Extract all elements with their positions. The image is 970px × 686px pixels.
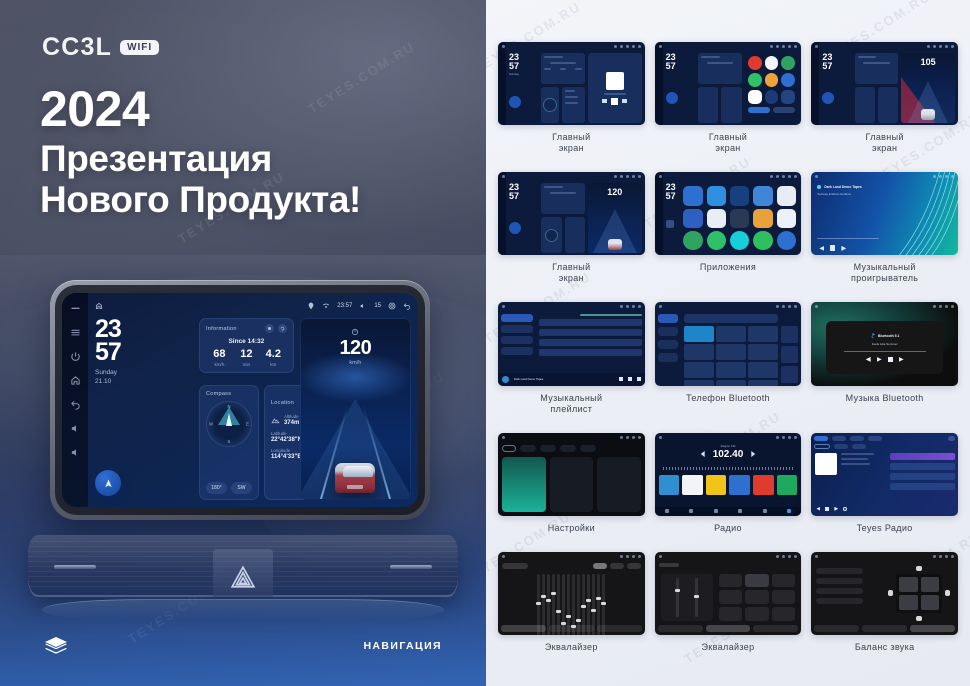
thumb-rail	[498, 42, 506, 125]
altitude-value: 374m	[284, 420, 299, 426]
thumb-miniplayer[interactable]: Dark Land Demo Tapes	[498, 373, 645, 386]
information-title: Information	[206, 326, 237, 332]
gear-icon[interactable]	[388, 302, 396, 310]
screen-thumbnail[interactable]: Dark Land Demo Tapes	[498, 302, 645, 385]
screen-thumbnail[interactable]: 23 57 120	[498, 172, 645, 255]
thumb-eq-tabs[interactable]	[501, 625, 642, 632]
thumb-teyes-controls[interactable]	[816, 507, 847, 511]
stat-unit: km/h	[206, 362, 233, 367]
compass-north-label: N	[227, 404, 230, 409]
thumbnail-caption: Баланс звука	[855, 642, 915, 653]
power-icon[interactable]	[70, 351, 81, 362]
refresh-icon[interactable]	[265, 324, 274, 333]
thumb-eq-preset[interactable]	[502, 563, 528, 569]
compass-heading: 180°	[206, 482, 227, 494]
stat-value: 12	[233, 349, 260, 360]
thumb-eq-modes[interactable]	[593, 563, 641, 569]
thumb-teyes-list[interactable]	[890, 453, 955, 490]
thumb-content: 23 57	[663, 51, 802, 125]
thumb-track-title: Dark Land Demo Tapes	[824, 185, 861, 189]
thumb-clock-m: 57	[822, 62, 851, 71]
headline-line-2: Нового Продукта!	[40, 179, 361, 220]
altitude-label: Altitude	[284, 414, 299, 419]
screen-thumbnail[interactable]	[811, 433, 958, 516]
clock-date: 21.10	[95, 378, 193, 387]
thumb-clock-m: 57	[509, 62, 538, 71]
thumbnail-caption: Главный экран	[709, 132, 747, 154]
clock-minutes: 57	[95, 341, 193, 364]
compass-title: Compass	[206, 391, 252, 397]
thumb-transport-controls[interactable]	[819, 245, 846, 251]
home-screen-grid: 23 57 Sunday 21.10	[95, 318, 411, 500]
thumb-teyes-tabs[interactable]	[814, 436, 955, 441]
screen-thumbnail[interactable]	[498, 552, 645, 635]
screen-thumbnail[interactable]: Dark Land Demo Tapes Subway Endless Endl…	[811, 172, 958, 255]
thumb-app-grid	[681, 183, 798, 253]
gallery-item[interactable]: Эквалайзер	[655, 552, 802, 653]
thumb-media-card	[588, 53, 642, 123]
compass-readouts: 180° SW	[206, 482, 252, 494]
screen-thumbnail[interactable]	[811, 552, 958, 635]
hardware-button-rail	[62, 293, 88, 507]
thumb-bt-card: Bluetooth 5.1 Feels Like Summer	[826, 321, 943, 374]
thumb-balance-tabs[interactable]	[814, 625, 955, 632]
stat-value: 68	[206, 349, 233, 360]
air-vent-bar	[28, 535, 458, 597]
thumbnail-caption: Музыкальный плейлист	[540, 393, 602, 415]
speed-unit: km/h	[301, 360, 410, 366]
thumb-phone-tabs[interactable]	[658, 314, 679, 362]
thumb-track-rows[interactable]	[539, 314, 642, 371]
thumb-call-actions[interactable]	[781, 326, 799, 382]
console-lip	[42, 599, 444, 621]
navigation-shortcut-button[interactable]	[95, 470, 121, 496]
thumbnail-caption: Настройки	[548, 523, 595, 534]
gallery-item[interactable]: 23 57 Sunday	[498, 42, 645, 154]
thumb-progress-bar[interactable]	[817, 238, 879, 240]
hero-headline: 2024 Презентация Нового Продукта!	[40, 84, 361, 221]
longitude-row: Longitude 114°4'33"E	[271, 448, 302, 460]
gallery-item[interactable]: Dark Land Demo Tapes Музыкальный плейлис…	[498, 302, 645, 414]
gallery-item[interactable]: Region FM 102.40	[655, 433, 802, 534]
thumb-bt-controls[interactable]	[866, 357, 904, 362]
gallery-item[interactable]: Bluetooth 5.1 Feels Like Summer Музыка B…	[811, 302, 958, 414]
thumbnail-caption: Музыкальный проигрыватель	[851, 262, 918, 284]
information-since: Since 14:32	[206, 338, 287, 345]
car-rear-window	[343, 466, 373, 477]
thumb-balance-presets[interactable]	[816, 568, 863, 604]
mountain-icon	[271, 416, 280, 425]
screen-thumbnail[interactable]: 23 57	[655, 42, 802, 125]
thumb-miniplayer-title: Dark Land Demo Tapes	[514, 377, 614, 381]
driving-view-widget[interactable]: 120 km/h	[300, 318, 411, 500]
thumb-keypad[interactable]	[684, 326, 778, 382]
screen-thumbnail[interactable]: 23 57 Sunday	[498, 42, 645, 125]
thumb-eq-presets[interactable]	[719, 574, 795, 621]
widgets-column: Information Since 14:32	[199, 318, 294, 500]
volume-icon	[359, 302, 367, 310]
thumbnail-caption: Радио	[714, 523, 742, 534]
screen-thumbnail[interactable]: 23 57	[655, 172, 802, 255]
screen-thumbnail[interactable]: Bluetooth 5.1 Feels Like Summer	[811, 302, 958, 385]
headline-year: 2024	[40, 84, 361, 135]
thumb-settings-tabs[interactable]	[502, 445, 641, 452]
hero-footer: НАВИГАЦИЯ	[0, 636, 486, 656]
menu-icon[interactable]	[70, 327, 81, 338]
latitude-value: 22°42'38"N	[271, 437, 302, 443]
presentation-slide: TEYES.COM.RU TEYES.COM.RU TEYES.COM.RU T…	[0, 0, 970, 686]
clock-weekday: Sunday	[95, 369, 193, 378]
screen-thumbnail[interactable]	[655, 302, 802, 385]
thumb-radio-presets[interactable]	[659, 475, 798, 496]
screen-thumbnail[interactable]	[655, 552, 802, 635]
volume-down-icon[interactable]	[70, 423, 81, 434]
navigation-arrow-icon	[103, 478, 114, 489]
thumb-track-artist: Subway Endless Endless	[817, 192, 884, 196]
head-unit-content: 23:57 15	[88, 293, 418, 507]
thumb-teyes-filters[interactable]	[814, 444, 955, 449]
status-volume: 15	[374, 303, 381, 309]
thumb-status-bar	[498, 42, 645, 51]
thumb-eq-pair[interactable]	[661, 574, 714, 621]
thumb-content: 23 57 Sunday	[506, 51, 645, 125]
compass-needle	[226, 413, 232, 426]
gallery-item[interactable]: Телефон Bluetooth	[655, 302, 802, 414]
thumb-nav-fab	[509, 96, 521, 108]
thumbnail-caption: Музыка Bluetooth	[846, 393, 924, 404]
latitude-row: Latitude 22°42'38"N	[271, 431, 302, 443]
thumbnail-caption: Телефон Bluetooth	[686, 393, 770, 404]
altitude-row: Altitude 374m	[271, 414, 302, 426]
thumb-content: 23 57 105	[819, 51, 958, 125]
stat-item: 12 min	[233, 349, 260, 367]
gallery-item[interactable]: 23 57	[655, 42, 802, 154]
thumb-app-panel	[745, 53, 799, 123]
thumb-drive-view: 105	[901, 53, 955, 123]
information-stats: 68 km/h 12 min	[206, 349, 287, 367]
head-unit-status-bar: 23:57 15	[95, 299, 411, 313]
screens-gallery: TEYES.COM.RU TEYES.COM.RU TEYES.COM.RU T…	[486, 0, 970, 686]
gallery-item[interactable]: 23 57 Приложения	[655, 172, 802, 284]
thumb-eq-title	[659, 563, 679, 567]
thumb-content: 23 57	[663, 181, 802, 255]
thumb-radio-tuner[interactable]: 102.40	[655, 449, 802, 460]
thumbnail-caption: Teyes Радио	[857, 523, 913, 534]
stat-item: 68 km/h	[206, 349, 233, 367]
thumbnail-caption: Приложения	[700, 262, 756, 273]
speed-readout: 120 km/h	[301, 328, 410, 366]
lower-widgets: Compass N S E W	[199, 385, 294, 500]
car-render	[332, 451, 378, 493]
head-unit-screen[interactable]: 23:57 15	[62, 293, 418, 507]
thumb-teyes-meta	[841, 453, 882, 465]
thumb-visualizer	[893, 172, 958, 255]
vent-slot-right	[390, 565, 432, 569]
thumb-content: 23 57 120	[506, 181, 645, 255]
thumb-track-list: Dark Land Demo Tapes Subway Endless Endl…	[817, 185, 884, 196]
compass-dial: N S E W	[206, 401, 252, 447]
gallery-item[interactable]: Teyes Радио	[811, 433, 958, 534]
head-unit-bezel: 23:57 15	[50, 280, 430, 520]
center-console	[28, 527, 458, 627]
gallery-item[interactable]: Настройки	[498, 433, 645, 534]
vent-slot-left	[54, 565, 96, 569]
compass-west-label: W	[209, 422, 213, 427]
thumb-radio-scale	[663, 467, 794, 470]
clock-widget[interactable]: 23 57 Sunday 21.10	[95, 318, 193, 500]
thumb-clock: 23 57 Sunday	[509, 53, 538, 123]
gallery-item[interactable]: Dark Land Demo Tapes Subway Endless Endl…	[811, 172, 958, 284]
speed-limit-icon	[351, 328, 359, 336]
back-arrow-icon[interactable]	[403, 302, 411, 310]
stat-unit: km	[260, 362, 287, 367]
hazard-button[interactable]	[213, 549, 273, 597]
product-logo: CC3L WIFI	[42, 33, 159, 62]
car-license-plate	[347, 485, 363, 489]
gallery-item[interactable]: Баланс звука	[811, 552, 958, 653]
screen-thumbnail[interactable]: 23 57 105	[811, 42, 958, 125]
longitude-value: 114°4'33"E	[271, 454, 302, 460]
thumbnail-grid: 23 57 Sunday	[498, 42, 958, 653]
thumbnail-caption: Главный экран	[552, 132, 590, 154]
thumb-settings-tiles[interactable]	[502, 457, 641, 512]
logo-model-text: CC3L	[42, 33, 112, 62]
speed-value: 120	[301, 338, 410, 358]
back-arrow-icon[interactable]	[70, 399, 81, 410]
thumb-eq-tabs[interactable]	[658, 625, 799, 632]
status-time: 23:57	[337, 303, 352, 309]
gallery-item[interactable]: 23 57 120	[498, 172, 645, 284]
gallery-item[interactable]: 23 57 105	[811, 42, 958, 154]
location-title: Location	[271, 400, 294, 406]
compass-direction: SW	[231, 482, 252, 494]
thumb-speed: 105	[901, 57, 955, 67]
thumbnail-caption: Эквалайзер	[545, 642, 598, 653]
compass-card[interactable]: Compass N S E W	[199, 385, 259, 500]
thumb-playlist-tabs[interactable]	[501, 314, 533, 355]
stat-item: 4.2 km	[260, 349, 287, 367]
hazard-triangle-icon	[230, 564, 256, 590]
thumb-clock-m: 57	[509, 192, 538, 201]
compass-south-label: S	[228, 439, 231, 444]
car-body	[335, 463, 375, 493]
mute-icon[interactable]	[70, 447, 81, 458]
gallery-item[interactable]: Эквалайзер	[498, 552, 645, 653]
driving-view: 120 km/h	[300, 318, 411, 500]
hero-panel: TEYES.COM.RU TEYES.COM.RU TEYES.COM.RU T…	[0, 0, 486, 686]
latitude-label: Latitude	[271, 431, 302, 436]
compass-east-label: E	[246, 422, 249, 427]
wifi-icon	[322, 302, 330, 310]
screen-thumbnail[interactable]: Region FM 102.40	[655, 433, 802, 516]
home-icon[interactable]	[70, 375, 81, 386]
head-unit-frame: 23:57 15	[55, 285, 425, 515]
thumb-teyes-cover	[815, 453, 837, 475]
stat-unit: min	[233, 362, 260, 367]
thumb-radio-toolbar[interactable]	[655, 507, 802, 516]
thumb-widgets	[541, 53, 585, 123]
navigation-label: НАВИГАЦИЯ	[363, 640, 442, 652]
thumb-clock-sub: Sunday	[509, 72, 538, 76]
thumb-drive-view: 120	[588, 183, 642, 253]
information-card[interactable]: Information Since 14:32	[199, 318, 294, 373]
screen-thumbnail[interactable]	[498, 433, 645, 516]
layers-icon	[44, 636, 68, 656]
thumb-speed: 120	[588, 187, 642, 197]
thumb-balance-pad[interactable]	[888, 566, 950, 621]
longitude-label: Longitude	[271, 448, 302, 453]
gps-icon	[307, 302, 315, 310]
thumbnail-caption: Эквалайзер	[702, 642, 755, 653]
logo-wifi-badge: WIFI	[120, 40, 159, 55]
stat-value: 4.2	[260, 349, 287, 360]
reset-icon[interactable]	[278, 324, 287, 333]
thumb-radio-frequency: 102.40	[713, 449, 744, 460]
thumb-clock-m: 57	[666, 192, 678, 201]
thumb-dial-field[interactable]	[684, 314, 778, 323]
thumb-radio-band: Region FM	[655, 444, 802, 448]
thumbnail-caption: Главный экран	[552, 262, 590, 284]
thumb-clock-m: 57	[666, 62, 695, 71]
thumb-bt-version: Bluetooth 5.1	[878, 334, 899, 338]
thumbnail-caption: Главный экран	[866, 132, 904, 154]
thumb-bt-track: Feels Like Summer	[872, 342, 898, 346]
car-dashboard-illustration: 23:57 15	[0, 255, 486, 686]
volume-up-icon[interactable]	[70, 303, 81, 314]
headline-line-1: Презентация	[40, 138, 361, 179]
home-icon[interactable]	[95, 302, 103, 310]
